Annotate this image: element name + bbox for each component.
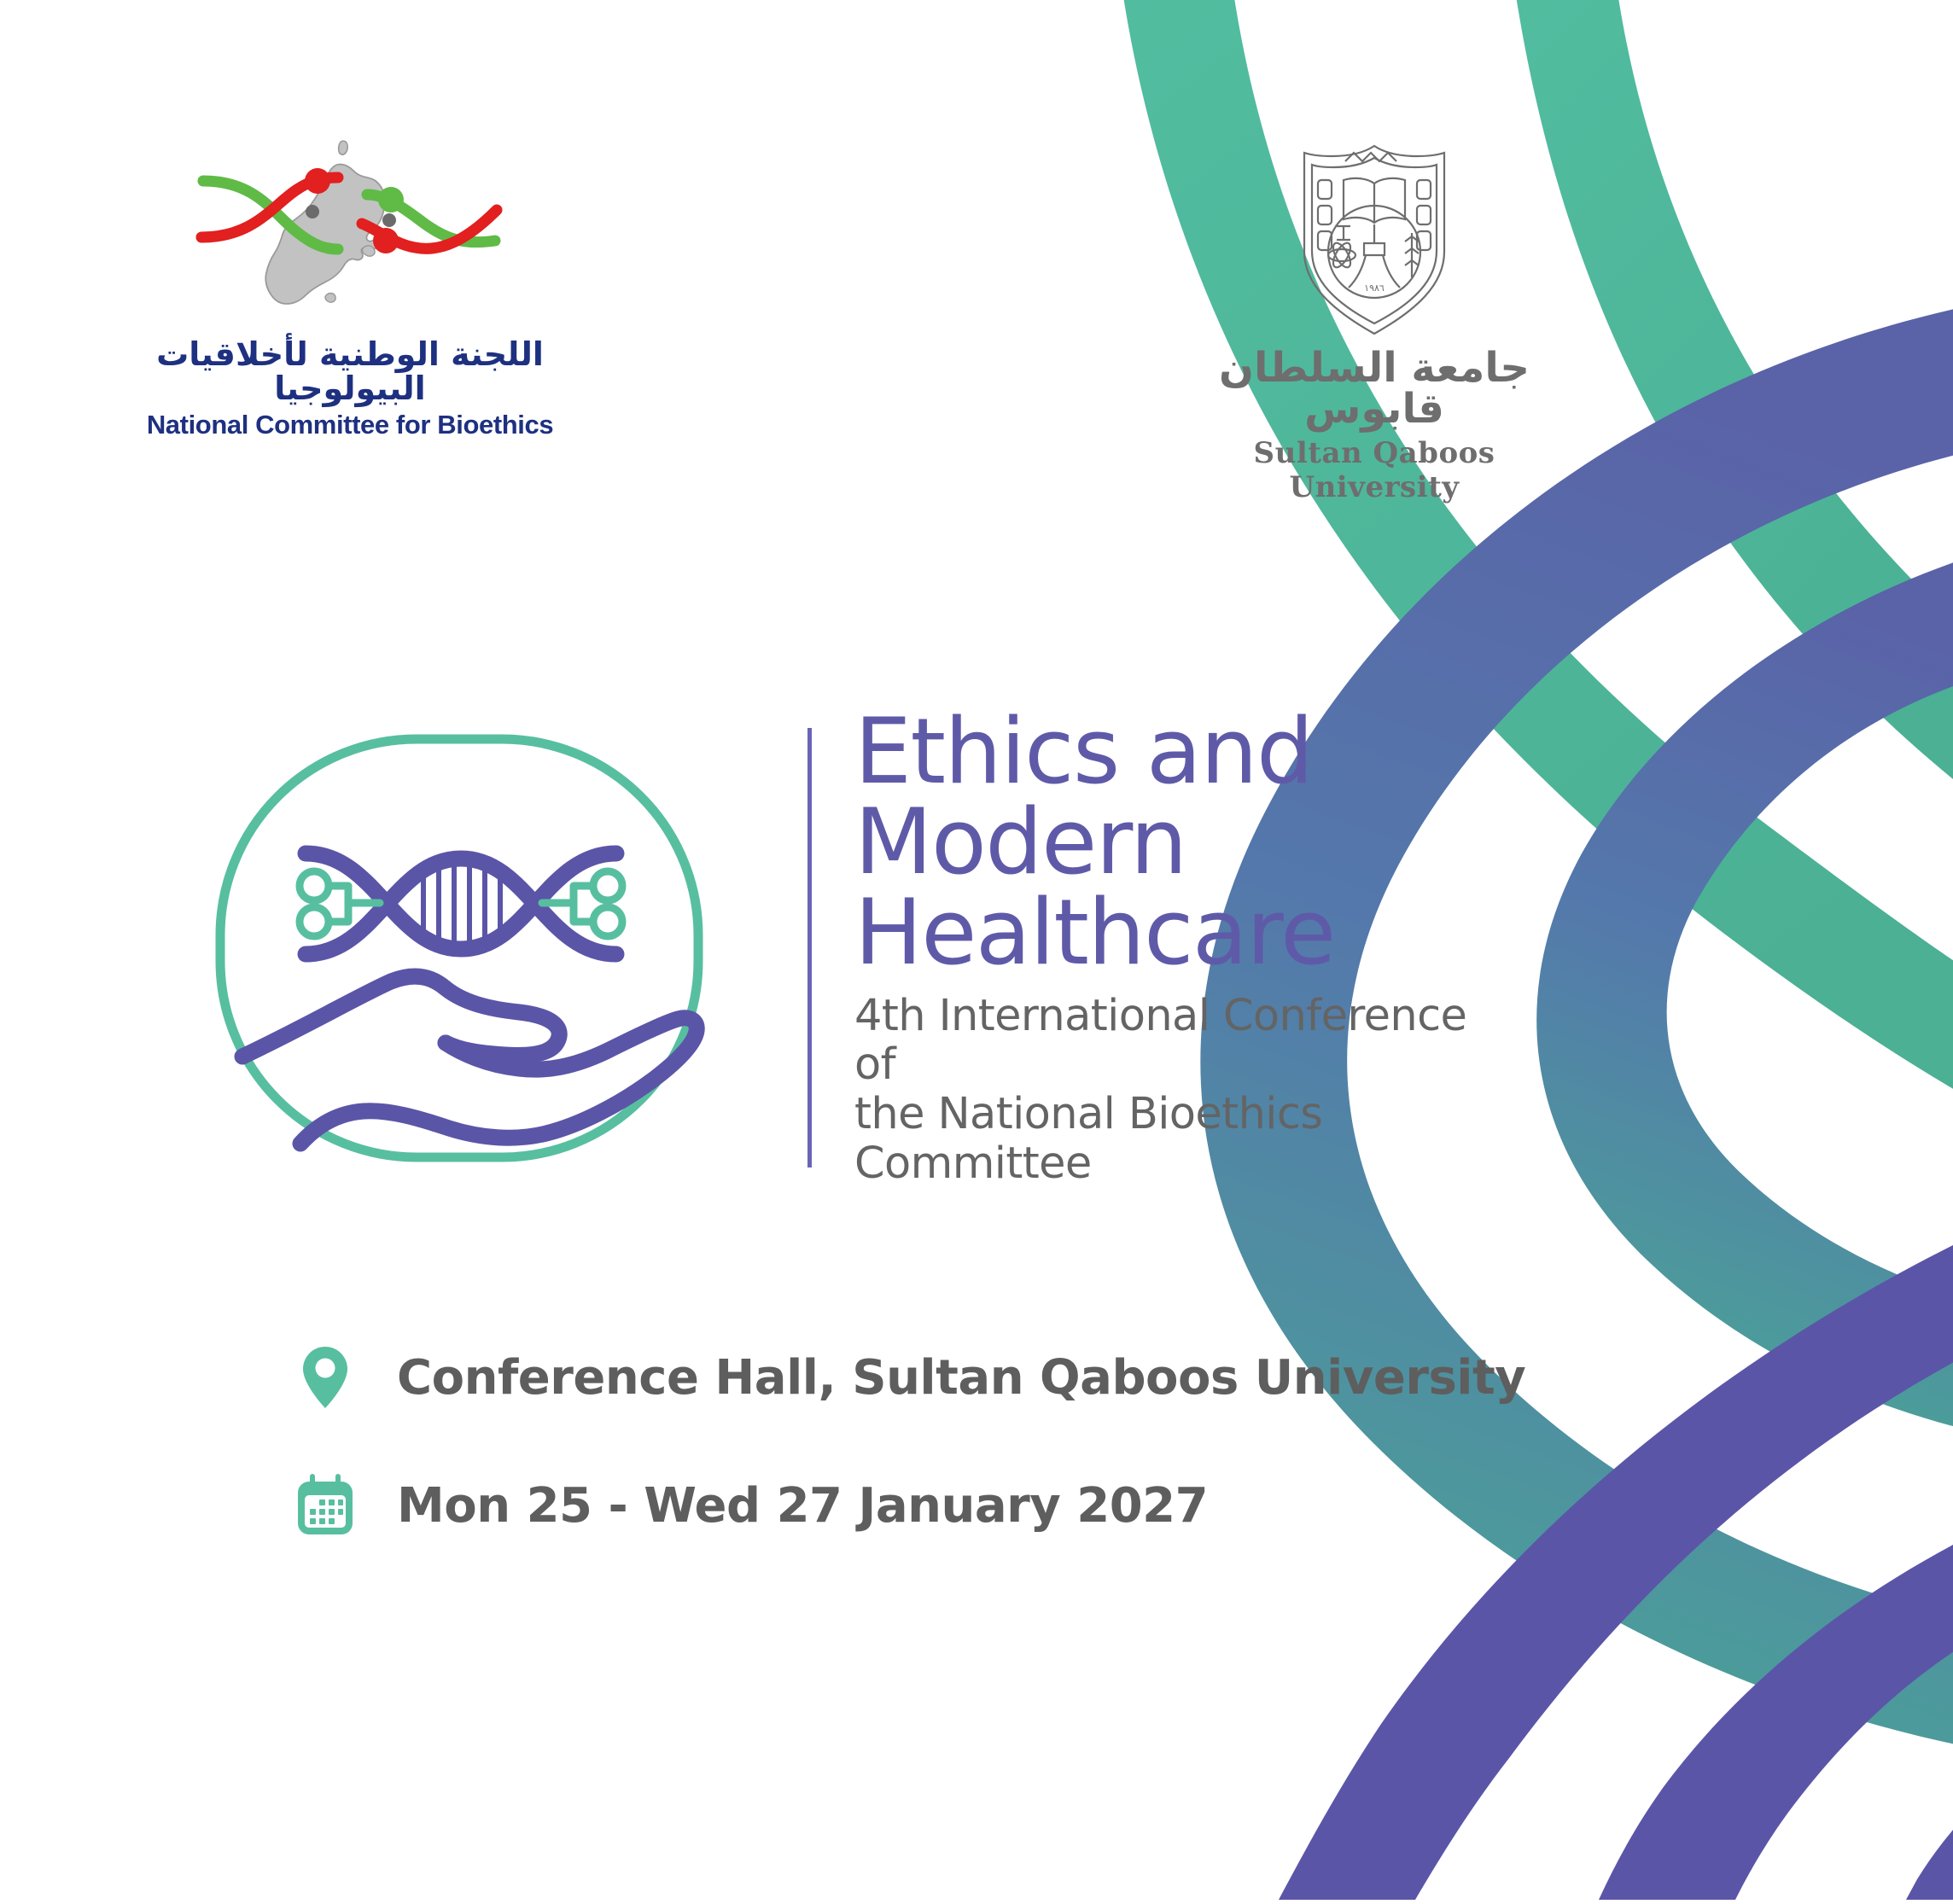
dna-node-red-right [373, 228, 399, 253]
dna-node-green-right [378, 187, 404, 213]
crest-panel-right-1 [1417, 180, 1431, 199]
title-line-3: Healthcare [854, 888, 1502, 978]
crest-panel-right-2 [1417, 206, 1431, 224]
title-line-1: Ethics and [854, 707, 1502, 797]
title-block: Ethics and Modern Healthcare 4th Interna… [854, 707, 1502, 1189]
crest-year: ١٩٨٦ [1364, 282, 1385, 294]
event-details: Conference Hall, Sultan Qaboos Universit… [294, 1331, 1404, 1552]
location-pin-icon [294, 1345, 356, 1410]
ribbon-green-2 [1509, 0, 1953, 819]
crest-flask-icon [1337, 226, 1350, 240]
ncb-english-name: National Committee for Bioethics [128, 410, 572, 440]
subtitle-line-1: 4th International Conference of [854, 992, 1502, 1090]
dna-node-gray-right [382, 213, 396, 227]
crest-khanjar-icon [1349, 224, 1400, 288]
venue-row: Conference Hall, Sultan Qaboos Universit… [294, 1331, 1404, 1424]
oman-map-shape [339, 141, 347, 154]
ncb-arabic-name: اللجنة الوطنية لأخلاقيات البيولوجيا [128, 338, 572, 406]
crest-panel-left-2 [1318, 206, 1332, 224]
dna-node-red-left [305, 168, 330, 194]
hero-block: Ethics and Modern Healthcare 4th Interna… [205, 708, 1502, 1186]
calendar-glyph [295, 1473, 355, 1538]
ribbon-purple-1 [1279, 1220, 1953, 1900]
oman-dna-mark [171, 128, 529, 333]
date-text: Mon 25 - Wed 27 January 2027 [397, 1478, 1208, 1534]
emblem-artwork [205, 725, 734, 1169]
crest-panel-left-1 [1318, 180, 1332, 199]
ribbon-blue-inner [1536, 546, 1953, 1438]
squ-logo: ١٩٨٦ جامعة السلطان قابوس Sultan Qaboos U… [1178, 141, 1571, 504]
conference-poster: اللجنة الوطنية لأخلاقيات البيولوجيا Nati… [0, 0, 1953, 1900]
title-divider [807, 728, 812, 1167]
logo-row: اللجنة الوطنية لأخلاقيات البيولوجيا Nati… [0, 0, 1502, 478]
ribbon-purple-2 [1599, 1519, 1953, 1900]
dna-node-gray-left [306, 205, 319, 218]
calendar-icon [294, 1473, 356, 1538]
subtitle-line-2: the National Bioethics Committee [854, 1090, 1502, 1188]
squ-english-name: Sultan Qaboos University [1178, 436, 1571, 504]
open-hand-icon [242, 976, 697, 1144]
oman-map-enclave [363, 246, 376, 256]
date-row: Mon 25 - Wed 27 January 2027 [294, 1459, 1404, 1552]
venue-text: Conference Hall, Sultan Qaboos Universit… [397, 1350, 1525, 1406]
oman-map-island [325, 294, 335, 303]
location-pin-glyph [301, 1345, 349, 1410]
ribbon-purple-3 [1906, 1779, 1953, 1900]
squ-crest-icon: ١٩٨٦ [1289, 141, 1460, 339]
dna-in-hand-emblem [205, 725, 734, 1169]
squ-arabic-name: جامعة السلطان قابوس [1178, 347, 1571, 429]
title-line-2: Modern [854, 797, 1502, 888]
ncb-logo: اللجنة الوطنية لأخلاقيات البيولوجيا Nati… [128, 128, 572, 440]
